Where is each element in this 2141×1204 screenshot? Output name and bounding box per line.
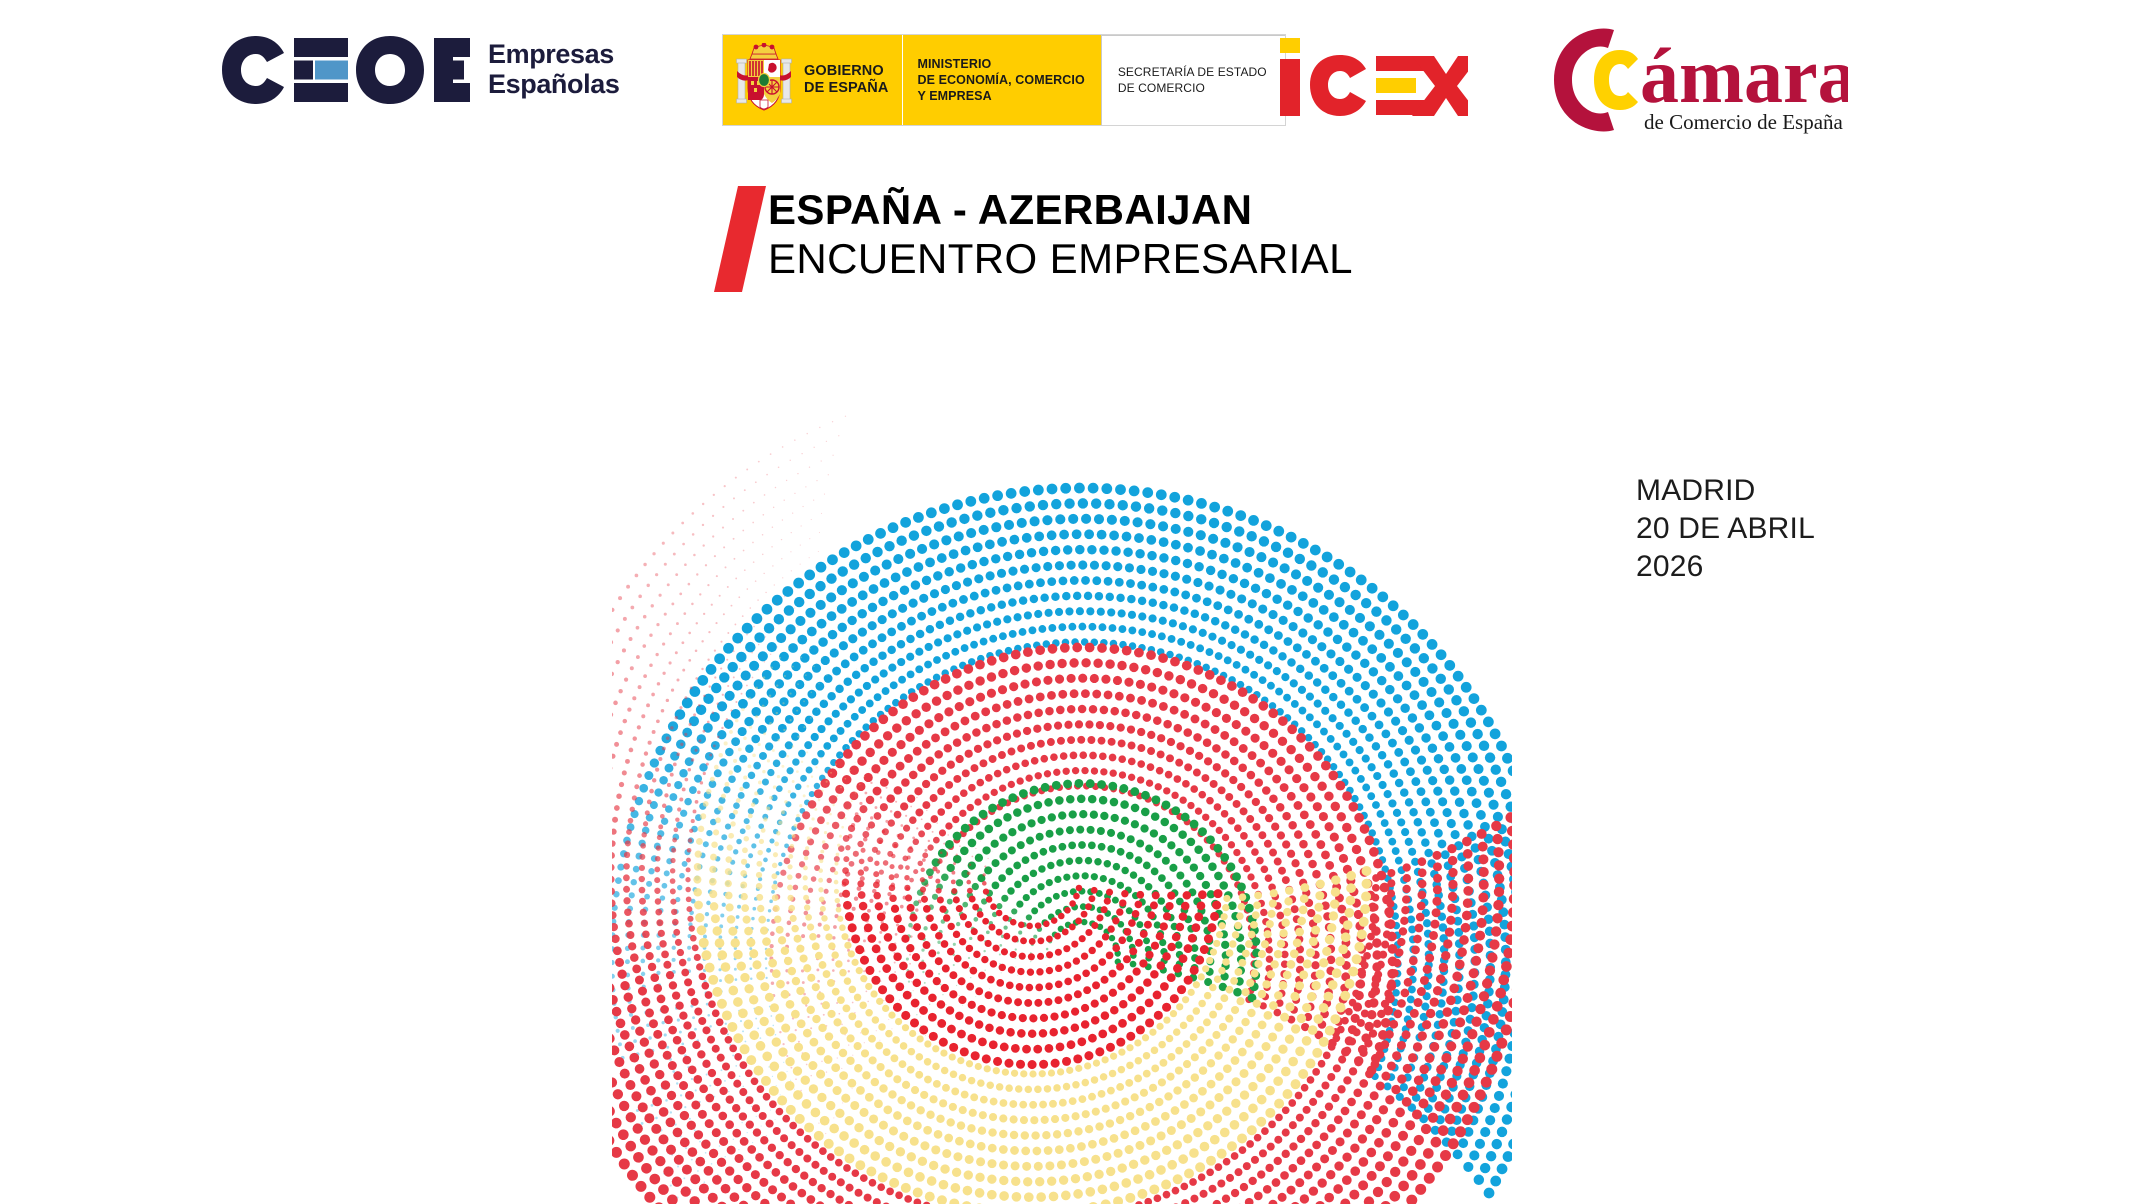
ministerio-line-2: DE ECONOMÍA, COMERCIO [917, 72, 1084, 88]
gobierno-line-2: DE ESPAÑA [804, 80, 888, 97]
gobierno-block: GOBIERNO DE ESPAÑA [723, 35, 903, 125]
secretaria-line-1: SECRETARÍA DE ESTADO [1118, 65, 1267, 80]
camara-de-comercio-logo: ámara de Comercio de España [1548, 26, 1848, 136]
gobierno-de-espana-logo: GOBIERNO DE ESPAÑA MINISTERIO DE ECONOMÍ… [722, 34, 1286, 126]
secretaria-line-2: DE COMERCIO [1118, 81, 1267, 96]
title-lines: ESPAÑA - AZERBAIJAN ENCUENTRO EMPRESARIA… [768, 184, 1353, 284]
ministerio-line-3: Y EMPRESA [917, 88, 1084, 104]
red-slash-icon [714, 186, 766, 292]
event-meta: MADRID 20 DE ABRIL 2026 [1636, 472, 1815, 585]
event-date: 20 DE ABRIL [1636, 510, 1815, 548]
ministerio-block: MINISTERIO DE ECONOMÍA, COMERCIO Y EMPRE… [903, 35, 1100, 125]
secretaria-block: SECRETARÍA DE ESTADO DE COMERCIO [1101, 35, 1285, 125]
gobierno-line-1: GOBIERNO [804, 63, 888, 80]
halftone-concentric-arcs-graphic [612, 318, 1512, 1204]
ceoe-tagline: Empresas Españolas [488, 39, 619, 101]
ceoe-wordmark-icon [222, 36, 470, 104]
ceoe-tagline-line-1: Empresas [488, 39, 619, 69]
icex-logo [1278, 36, 1468, 118]
title-line-2: ENCUENTRO EMPRESARIAL [768, 233, 1353, 284]
svg-text:ámara: ámara [1640, 32, 1848, 119]
ministerio-text: MINISTERIO DE ECONOMÍA, COMERCIO Y EMPRE… [917, 56, 1084, 104]
ceoe-tagline-line-2: Españolas [488, 69, 619, 99]
event-city: MADRID [1636, 472, 1815, 510]
secretaria-text: SECRETARÍA DE ESTADO DE COMERCIO [1118, 65, 1267, 96]
gobierno-text: GOBIERNO DE ESPAÑA [804, 63, 888, 98]
event-title: ESPAÑA - AZERBAIJAN ENCUENTRO EMPRESARIA… [714, 186, 1614, 296]
logo-bar: Empresas Españolas [0, 0, 2141, 160]
event-year: 2026 [1636, 548, 1815, 586]
ministerio-line-1: MINISTERIO [917, 56, 1084, 72]
ceoe-logo: Empresas Españolas [222, 36, 619, 104]
spain-coat-of-arms-icon [735, 43, 793, 117]
svg-text:de Comercio de España: de Comercio de España [1644, 110, 1844, 134]
title-line-1: ESPAÑA - AZERBAIJAN [768, 184, 1353, 235]
